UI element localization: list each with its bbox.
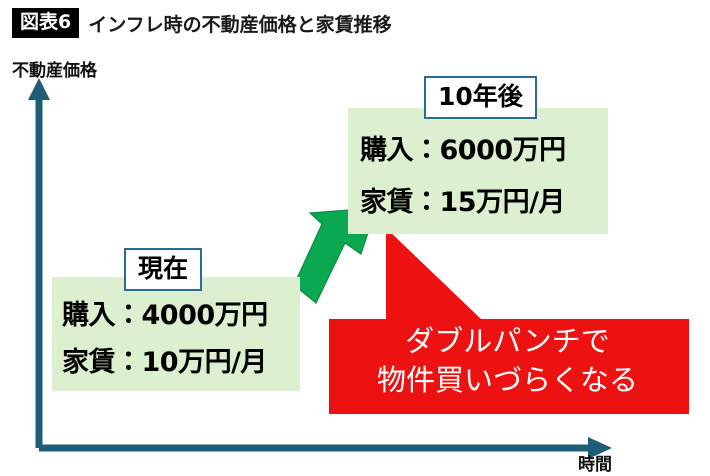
scenario-future-label: 10年後 — [424, 76, 537, 119]
scenario-future-purchase: 購入：6000万円 — [360, 128, 566, 167]
scenario-box-future: 購入：6000万円 家賃：15万円/月 — [348, 108, 608, 234]
scenario-now-purchase: 購入：4000万円 — [62, 293, 268, 332]
scenario-now-rent: 家賃：10万円/月 — [62, 340, 267, 379]
scenario-now-label: 現在 — [124, 248, 202, 291]
infographic-canvas: 図表6 インフレ時の不動産価格と家賃推移 不動産価格 時間 購入：4000万円 … — [0, 0, 710, 476]
scenario-box-now: 購入：4000万円 家賃：10万円/月 — [52, 277, 300, 391]
red-callout-shape — [329, 228, 689, 414]
scenario-future-rent: 家賃：15万円/月 — [360, 180, 565, 219]
diagram-shapes — [0, 0, 710, 476]
